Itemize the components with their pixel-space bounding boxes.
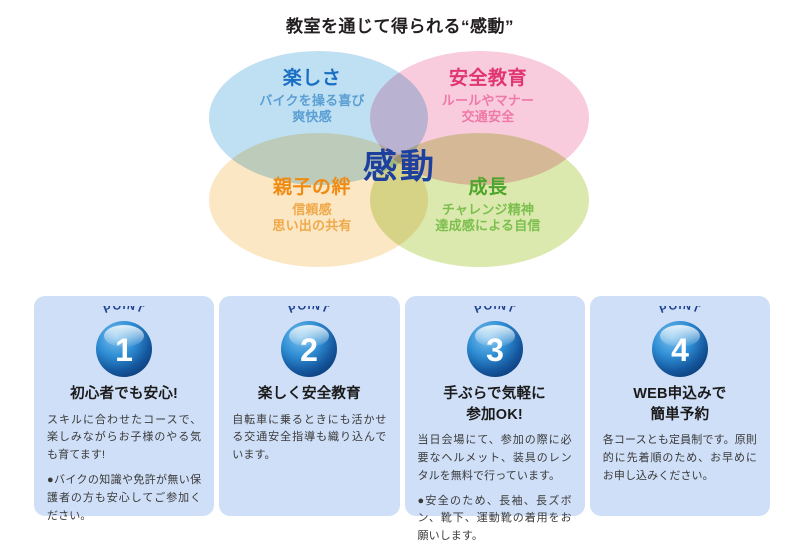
point-badge-wrap-3: POINT3: [418, 306, 572, 384]
venn-ellipse-grow: [370, 133, 589, 267]
point-card-heading-line: WEB申込みで: [633, 386, 726, 402]
point-card-heading-line: 手ぶらで気軽に: [443, 386, 545, 402]
point-number-badge-4: 4: [651, 320, 709, 378]
point-number-1: 1: [115, 332, 133, 368]
point-card-body-1: スキルに合わせたコースで、楽しみながらお子様のやる気も育てます!●バイクの知識や…: [47, 412, 201, 526]
point-number-2: 2: [300, 332, 318, 368]
svg-text:POINT: POINT: [473, 306, 517, 316]
point-card-paragraph: 各コースとも定員制です。原則的に先着順のため、お早めにお申し込みください。: [603, 432, 757, 485]
point-card-body-4: 各コースとも定員制です。原則的に先着順のため、お早めにお申し込みください。: [603, 432, 757, 485]
point-card-heading-1: 初心者でも安心!: [47, 384, 201, 405]
point-card-3[interactable]: POINT3手ぶらで気軽に参加OK!当日会場にて、参加の際に必要なヘルメット、装…: [405, 296, 585, 516]
point-card-body-3: 当日会場にて、参加の際に必要なヘルメット、装具のレンタルを無料で行っています。●…: [418, 432, 572, 546]
point-number-3: 3: [486, 332, 504, 368]
point-number-badge-3: 3: [466, 320, 524, 378]
point-card-paragraph: ●バイクの知識や免許が無い保護者の方も安心してご参加ください。: [47, 472, 201, 525]
point-card-heading-line: 楽しく安全教育: [258, 386, 361, 402]
svg-text:POINT: POINT: [102, 306, 146, 316]
point-card-paragraph: 当日会場にて、参加の際に必要なヘルメット、装具のレンタルを無料で行っています。: [418, 432, 572, 485]
point-badge-wrap-4: POINT4: [603, 306, 757, 384]
venn-diagram: 楽しさ バイクを操る喜び 爽快感 安全教育 ルールやマナー 交通安全 親子の絆 …: [195, 45, 605, 273]
svg-text:POINT: POINT: [658, 306, 702, 316]
point-number-4: 4: [671, 332, 689, 368]
point-card-paragraph: ●安全のため、長袖、長ズボン、靴下、運動靴の着用をお願いします。: [418, 493, 572, 546]
point-badge-wrap-2: POINT2: [232, 306, 386, 384]
point-card-2[interactable]: POINT2楽しく安全教育自転車に乗るときにも活かせる交通安全指導も織り込んでい…: [219, 296, 399, 516]
svg-text:POINT: POINT: [287, 306, 331, 316]
point-card-heading-line: 簡単予約: [650, 407, 709, 423]
point-card-heading-3: 手ぶらで気軽に参加OK!: [418, 384, 572, 425]
point-card-body-2: 自転車に乗るときにも活かせる交通安全指導も織り込んでいます。: [232, 412, 386, 465]
point-card-heading-4: WEB申込みで簡単予約: [603, 384, 757, 425]
point-card-heading-2: 楽しく安全教育: [232, 384, 386, 405]
point-card-paragraph: スキルに合わせたコースで、楽しみながらお子様のやる気も育てます!: [47, 412, 201, 465]
point-card-heading-line: 初心者でも安心!: [70, 386, 178, 402]
point-number-badge-1: 1: [95, 320, 153, 378]
point-badge-wrap-1: POINT1: [47, 306, 201, 384]
point-card-4[interactable]: POINT4WEB申込みで簡単予約各コースとも定員制です。原則的に先着順のため、…: [590, 296, 770, 516]
page-title: 教室を通じて得られる“感動”: [0, 12, 800, 37]
point-card-heading-line: 参加OK!: [466, 407, 523, 423]
point-card-1[interactable]: POINT1初心者でも安心!スキルに合わせたコースで、楽しみながらお子様のやる気…: [34, 296, 214, 516]
point-card-list: POINT1初心者でも安心!スキルに合わせたコースで、楽しみながらお子様のやる気…: [34, 296, 770, 516]
point-card-paragraph: 自転車に乗るときにも活かせる交通安全指導も織り込んでいます。: [232, 412, 386, 465]
point-number-badge-2: 2: [280, 320, 338, 378]
venn-ellipse-group: [195, 45, 605, 273]
